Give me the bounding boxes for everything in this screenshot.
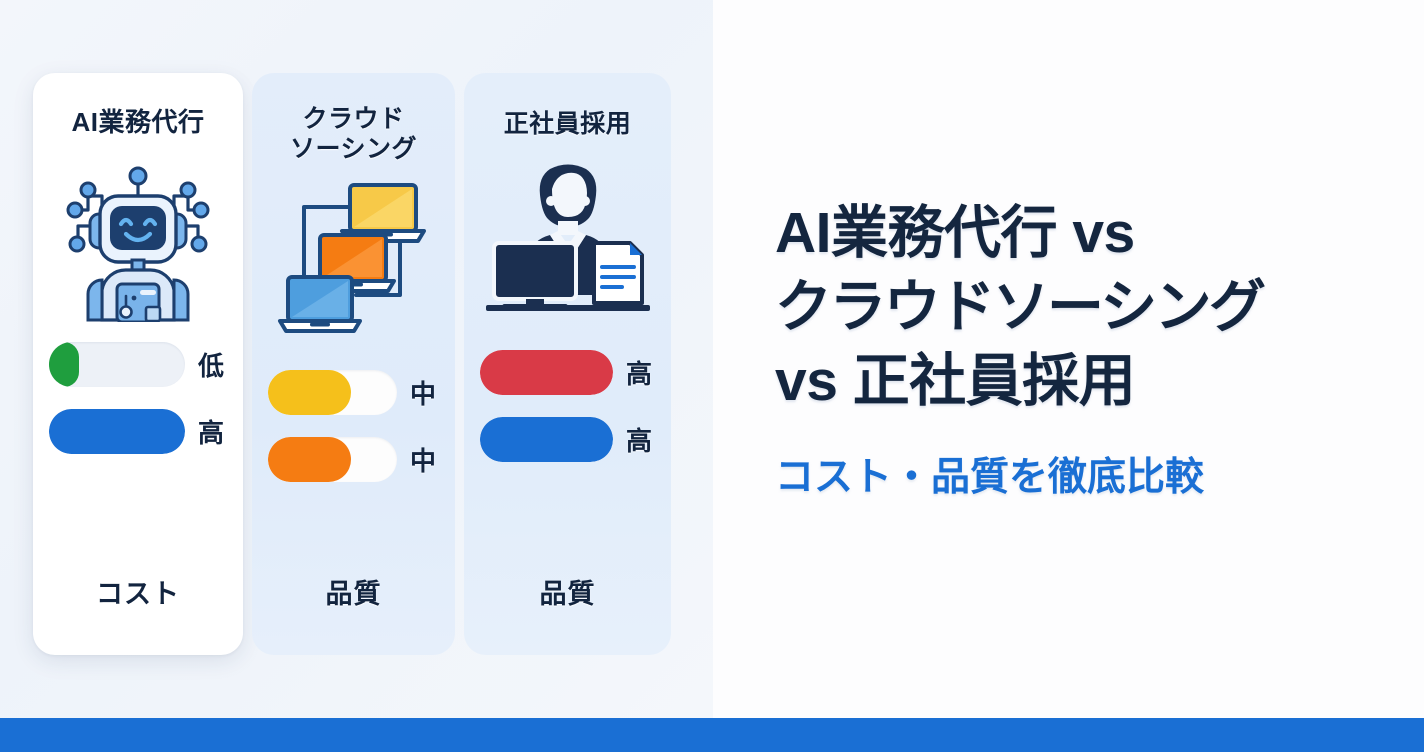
card-footer-label: コスト — [96, 572, 180, 611]
meter-track — [49, 342, 185, 387]
headline-subtitle: コスト・品質を徹底比較 — [775, 446, 1385, 502]
meter-track — [49, 409, 185, 454]
businessman-icon — [464, 150, 671, 320]
meter-fill — [480, 417, 613, 462]
meter-value-label: 高 — [623, 421, 655, 458]
meter-track — [268, 370, 397, 415]
meter-fill — [49, 342, 79, 387]
meter-value-label: 高 — [623, 354, 655, 391]
comparison-card-ai[interactable]: AI業務代行 — [33, 73, 243, 655]
meter-group: 中 中 — [252, 370, 455, 482]
bottom-accent-bar — [0, 718, 1424, 752]
card-title: 正社員採用 — [496, 110, 640, 140]
headline-line-1: AI業務代行 vs — [775, 196, 1385, 270]
meter-fill — [49, 409, 185, 454]
meter-fill — [268, 370, 351, 415]
comparison-card-crowdsourcing[interactable]: クラウドソーシング — [252, 73, 455, 655]
meter-row-quality[interactable]: 高 — [49, 409, 227, 454]
headline-line-3: vs 正社員採用 — [775, 344, 1385, 418]
meter-value-label: 中 — [407, 441, 439, 478]
meter-value-label: 高 — [195, 413, 227, 450]
comparison-card-list: AI業務代行 — [33, 73, 675, 655]
comparison-card-fulltime[interactable]: 正社員採用 — [464, 73, 671, 655]
meter-fill — [480, 350, 613, 395]
meter-group: 低 高 — [33, 342, 243, 454]
headline-block: AI業務代行 vs クラウドソーシング vs 正社員採用 コスト・品質を徹底比較 — [775, 196, 1385, 502]
card-title: AI業務代行 — [63, 107, 212, 138]
meter-value-label: 低 — [195, 346, 227, 383]
meter-track — [480, 417, 613, 462]
meter-row-cost[interactable]: 高 — [480, 350, 655, 395]
slide-canvas: AI業務代行 — [0, 0, 1424, 752]
meter-row-cost[interactable]: 中 — [268, 370, 439, 415]
card-footer-label: 品質 — [540, 572, 596, 611]
headline-line-2: クラウドソーシング — [775, 270, 1385, 344]
meter-track — [480, 350, 613, 395]
meter-track — [268, 437, 397, 482]
laptops-network-icon — [252, 166, 455, 348]
meter-fill — [268, 437, 351, 482]
robot-icon — [33, 146, 243, 328]
card-title: クラウドソーシング — [282, 105, 425, 164]
meter-row-quality[interactable]: 高 — [480, 417, 655, 462]
card-footer-label: 品質 — [326, 572, 382, 611]
meter-group: 高 高 — [464, 350, 671, 462]
meter-row-cost[interactable]: 低 — [49, 342, 227, 387]
meter-row-quality[interactable]: 中 — [268, 437, 439, 482]
meter-value-label: 中 — [407, 374, 439, 411]
